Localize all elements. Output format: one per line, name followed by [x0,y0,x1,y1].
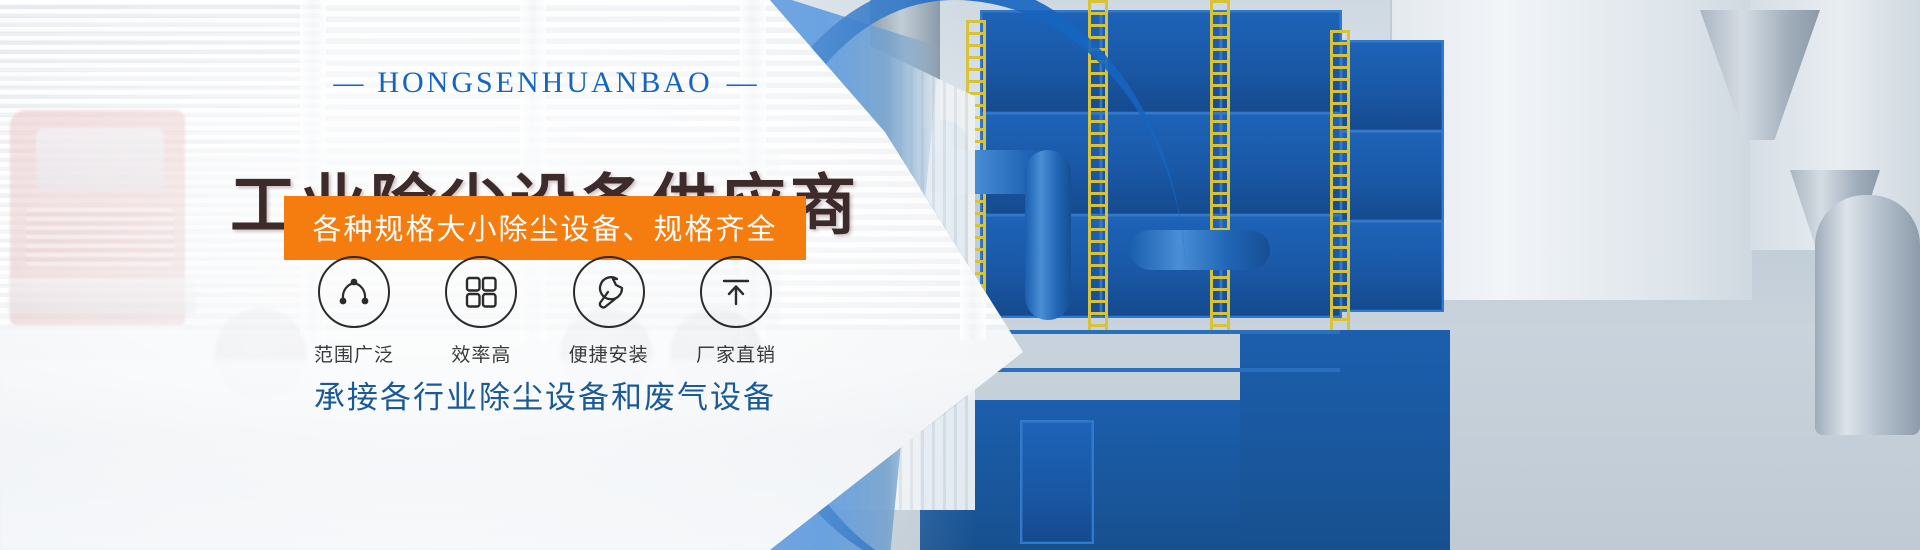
dash-right-icon: — [713,66,771,99]
baghouse-module [1220,10,1342,114]
baghouse-module [1340,40,1444,132]
feature-item-range[interactable]: 范围广泛 [300,256,408,367]
feature-item-factory-direct[interactable]: 厂家直销 [682,256,790,367]
access-ladder [1330,30,1350,330]
subtitle-bar-wrap: 各种规格大小除尘设备、规格齐全 [0,196,1090,260]
brand-name: HONGSENHUANBAO [377,66,712,99]
feature-label: 便捷安装 [555,340,663,367]
dash-left-icon: — [319,66,377,99]
steel-cyclone [1815,195,1920,435]
access-ladder [1210,0,1230,330]
feature-item-installation[interactable]: 便捷安装 [555,256,663,367]
equipment-base [1240,330,1450,550]
feature-label: 范围广泛 [300,340,408,367]
baghouse-module [1220,112,1342,216]
baghouse-module [1340,220,1444,312]
feature-item-efficiency[interactable]: 效率高 [427,256,535,367]
feature-label: 效率高 [427,340,535,367]
grid-four-squares-icon [462,273,500,311]
baghouse-module [1340,130,1444,222]
feature-icon-circle [318,256,390,328]
feature-list: 范围广泛 效率高 [300,256,790,367]
brand-eyebrow: —HONGSENHUANBAO— [0,66,1090,100]
hero-content: —HONGSENHUANBAO— 工业除尘设备供应商 各种规格大小除尘设备、规格… [0,0,1100,550]
feature-icon-circle [573,256,645,328]
tagline: 承接各行业除尘设备和废气设备 [0,372,1090,417]
factory-building [1390,0,1752,300]
network-nodes-icon [334,272,374,312]
feature-icon-circle [445,256,517,328]
subtitle-bar: 各种规格大小除尘设备、规格齐全 [284,196,805,260]
hero-banner: —HONGSENHUANBAO— 工业除尘设备供应商 各种规格大小除尘设备、规格… [0,0,1920,550]
feature-label: 厂家直销 [682,340,790,367]
feature-icon-circle [700,256,772,328]
wrench-icon [589,272,629,312]
arrow-up-bar-icon [717,273,755,311]
